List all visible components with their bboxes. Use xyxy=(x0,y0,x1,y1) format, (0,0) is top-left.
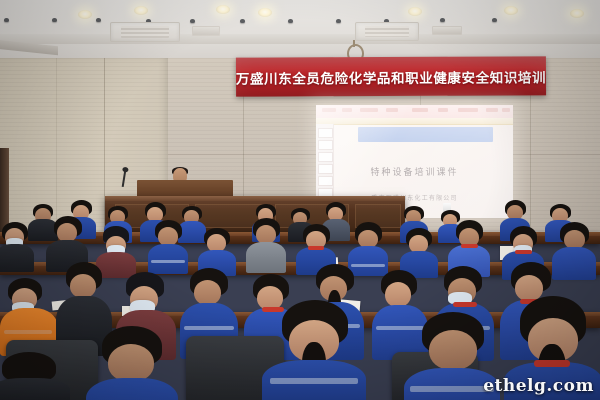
conference-room-photo: 万盛川东全员危险化学品和职业健康安全知识培训 特种设备培训课件 重庆万盛川东化工… xyxy=(0,0,600,400)
sprinkler-head xyxy=(96,18,101,22)
attendee xyxy=(0,352,70,400)
sprinkler-head xyxy=(288,19,293,23)
ceiling-soffit xyxy=(0,34,600,44)
attendee xyxy=(86,326,178,400)
event-banner: 万盛川东全员危险化学品和职业健康安全知识培训 xyxy=(236,56,546,96)
ceiling-vent-slot xyxy=(192,26,220,36)
ceiling-downlight xyxy=(504,6,518,15)
sprinkler-head xyxy=(190,19,195,23)
attendee xyxy=(148,220,188,272)
sprinkler-head xyxy=(492,18,497,22)
sprinkler-head xyxy=(52,18,57,22)
ceiling-downlight xyxy=(78,10,92,19)
attendee-ponytail-front xyxy=(262,300,366,400)
sprinkler-head xyxy=(240,19,245,23)
ac-vent xyxy=(355,22,419,41)
site-watermark: ethelg.com xyxy=(483,376,594,396)
ceiling-vent-slot xyxy=(432,26,462,35)
ceiling-downlight xyxy=(258,8,272,17)
ceiling-downlight xyxy=(570,9,584,18)
attendee xyxy=(0,222,34,270)
ac-vent xyxy=(110,22,180,42)
sprinkler-head xyxy=(4,18,9,22)
sprinkler-head xyxy=(440,18,445,22)
ceiling-downlight xyxy=(216,5,230,14)
attendee xyxy=(246,218,286,272)
ceiling-downlight xyxy=(134,6,148,15)
attendee xyxy=(400,228,438,276)
sprinkler-head xyxy=(336,19,341,23)
ceiling xyxy=(0,0,600,60)
ceiling-downlight xyxy=(408,7,422,16)
